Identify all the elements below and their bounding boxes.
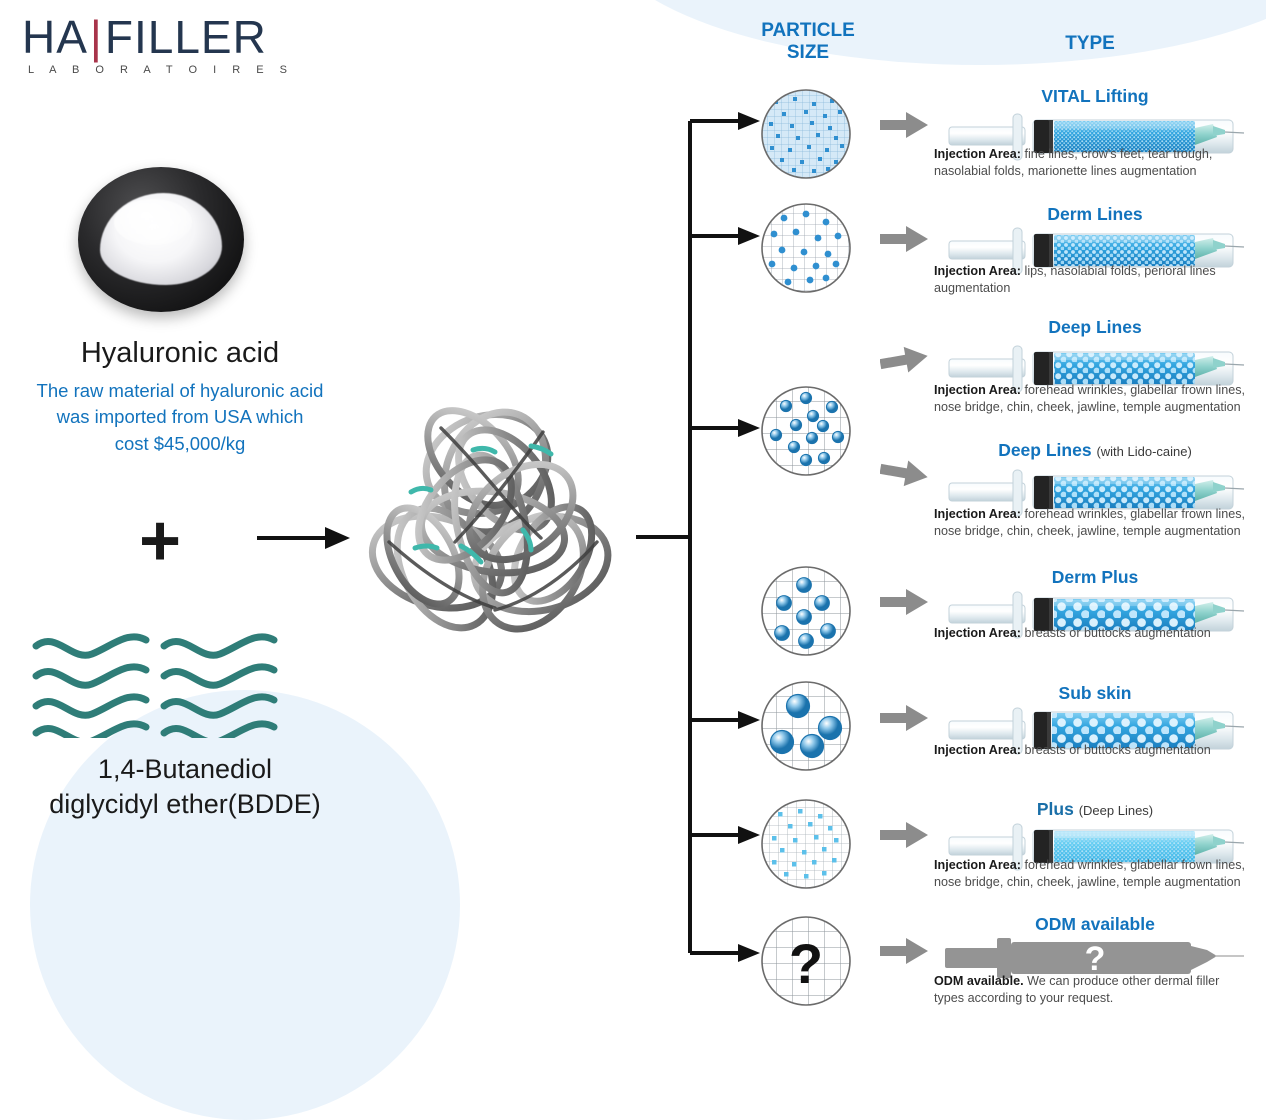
injection-area-derm-plus: Injection Area: breasts or buttocks augm… — [934, 625, 1252, 642]
flow-arrow-icon — [880, 587, 928, 617]
product-name-derm-plus: Derm Plus — [945, 567, 1245, 588]
product-name-derm-lines: Derm Lines — [945, 204, 1245, 225]
crosslinked-ha-molecule-icon — [345, 392, 640, 647]
logo-tagline: L A B O R A T O I R E S — [22, 64, 352, 76]
ha-desc-line-2: was imported from USA which — [10, 404, 350, 430]
injection-label: Injection Area: — [934, 383, 1021, 397]
syringe-vital-lifting — [945, 108, 1245, 166]
hyaluronic-acid-title: Hyaluronic acid — [0, 337, 360, 370]
product-name-vital-lifting: VITAL Lifting — [945, 86, 1245, 107]
product-name-sub-skin: Sub skin — [945, 683, 1245, 704]
odm-question-glyph: ? — [1085, 940, 1106, 978]
ha-desc-line-3: cost $45,000/kg — [10, 431, 350, 457]
syringe-sub-skin — [945, 702, 1245, 760]
injection-area-vital-lifting: Injection Area: fine lines, crow's feet,… — [934, 146, 1252, 179]
product-name-plus: Plus (Deep Lines) — [945, 799, 1245, 820]
injection-label: Injection Area: — [934, 147, 1021, 161]
bdde-line-2: diglycidyl ether(BDDE) — [0, 787, 370, 822]
bdde-wave-lines-icon — [32, 628, 278, 738]
injection-area-deep-lines: Injection Area: forehead wrinkles, glabe… — [934, 382, 1252, 415]
injection-text: forehead wrinkles, glabellar frown lines… — [934, 383, 1245, 414]
product-label: Derm Lines — [1047, 204, 1142, 224]
logo-filler: FILLER — [105, 11, 267, 63]
logo-ha: HA — [22, 11, 88, 63]
question-mark-glyph: ? — [789, 932, 823, 995]
injection-text: breasts or buttocks augmentation — [1021, 743, 1211, 757]
hyaluronic-acid-powder-dish-icon — [78, 167, 244, 312]
particle-size-line-2: SIZE — [728, 42, 888, 64]
injection-text: forehead wrinkles, glabellar frown lines… — [934, 507, 1245, 538]
syringe-deep-lines-lidocaine — [945, 464, 1245, 522]
brand-logo: HA|FILLER L A B O R A T O I R E S — [22, 14, 352, 76]
product-label: Derm Plus — [1052, 567, 1139, 587]
syringe-deep-lines — [945, 340, 1245, 398]
injection-text: fine lines, crow's feet, tear trough, na… — [934, 147, 1212, 178]
column-header-type: TYPE — [980, 33, 1200, 55]
product-label: Deep Lines — [1048, 317, 1141, 337]
flow-arrow-icon — [880, 110, 928, 140]
product-label: VITAL Lifting — [1041, 86, 1148, 106]
plus-symbol: + — [120, 505, 200, 577]
bdde-title: 1,4-Butanediol diglycidyl ether(BDDE) — [0, 752, 370, 821]
product-suffix: (Deep Lines) — [1079, 803, 1153, 818]
stopper — [1034, 120, 1053, 153]
injection-label: Injection Area: — [934, 507, 1021, 521]
injection-text: We can produce other dermal filler types… — [934, 974, 1219, 1005]
injection-area-plus: Injection Area: forehead wrinkles, glabe… — [934, 857, 1252, 890]
hyaluronic-acid-description: The raw material of hyaluronic acid was … — [10, 378, 350, 457]
product-label: ODM available — [1035, 914, 1155, 934]
injection-label: Injection Area: — [934, 626, 1021, 640]
injection-label: Injection Area: — [934, 858, 1021, 872]
syringe-derm-lines — [945, 222, 1245, 280]
product-name-deep-lines-lidocaine: Deep Lines (with Lido-caine) — [945, 440, 1245, 461]
product-label: Deep Lines — [998, 440, 1091, 460]
particle-size-line-1: PARTICLE — [728, 20, 888, 42]
syringe-odm-placeholder: ? — [945, 930, 1245, 988]
product-label: Sub skin — [1059, 683, 1132, 703]
logo-slash-icon: | — [88, 11, 105, 63]
logo-wordmark: HA|FILLER — [22, 14, 352, 60]
flow-arrow-icon — [880, 703, 928, 733]
process-arrow-icon — [255, 522, 350, 554]
bdde-line-1: 1,4-Butanediol — [0, 752, 370, 787]
injection-label: Injection Area: — [934, 264, 1021, 278]
powder-heap — [100, 193, 222, 285]
syringe-derm-plus — [945, 586, 1245, 644]
product-suffix: (with Lido-caine) — [1096, 444, 1191, 459]
injection-label: Injection Area: — [934, 743, 1021, 757]
injection-label: ODM available. — [934, 974, 1024, 988]
flow-arrow-icon — [880, 936, 928, 966]
syringe-plus — [945, 818, 1245, 876]
plunger-rod — [949, 127, 1025, 145]
odm-note: ODM available. We can produce other derm… — [934, 973, 1252, 1006]
flow-arrow-icon — [880, 458, 928, 488]
injection-text: forehead wrinkles, glabellar frown lines… — [934, 858, 1245, 889]
flow-arrow-icon — [880, 820, 928, 850]
injection-area-deep-lines-lidocaine: Injection Area: forehead wrinkles, glabe… — [934, 506, 1252, 539]
product-label: Plus — [1037, 799, 1074, 819]
injection-text: lips, nasolabial folds, perioral lines a… — [934, 264, 1216, 295]
product-name-odm: ODM available — [945, 914, 1245, 935]
injection-area-derm-lines: Injection Area: lips, nasolabial folds, … — [934, 263, 1252, 296]
column-header-particle-size: PARTICLE SIZE — [728, 20, 888, 64]
flow-arrow-icon — [880, 224, 928, 254]
injection-area-sub-skin: Injection Area: breasts or buttocks augm… — [934, 742, 1252, 759]
flow-arrow-icon — [880, 345, 928, 375]
product-name-deep-lines: Deep Lines — [945, 317, 1245, 338]
injection-text: breasts or buttocks augmentation — [1021, 626, 1211, 640]
ha-desc-line-1: The raw material of hyaluronic acid — [10, 378, 350, 404]
distribution-connector-tree — [636, 100, 776, 970]
